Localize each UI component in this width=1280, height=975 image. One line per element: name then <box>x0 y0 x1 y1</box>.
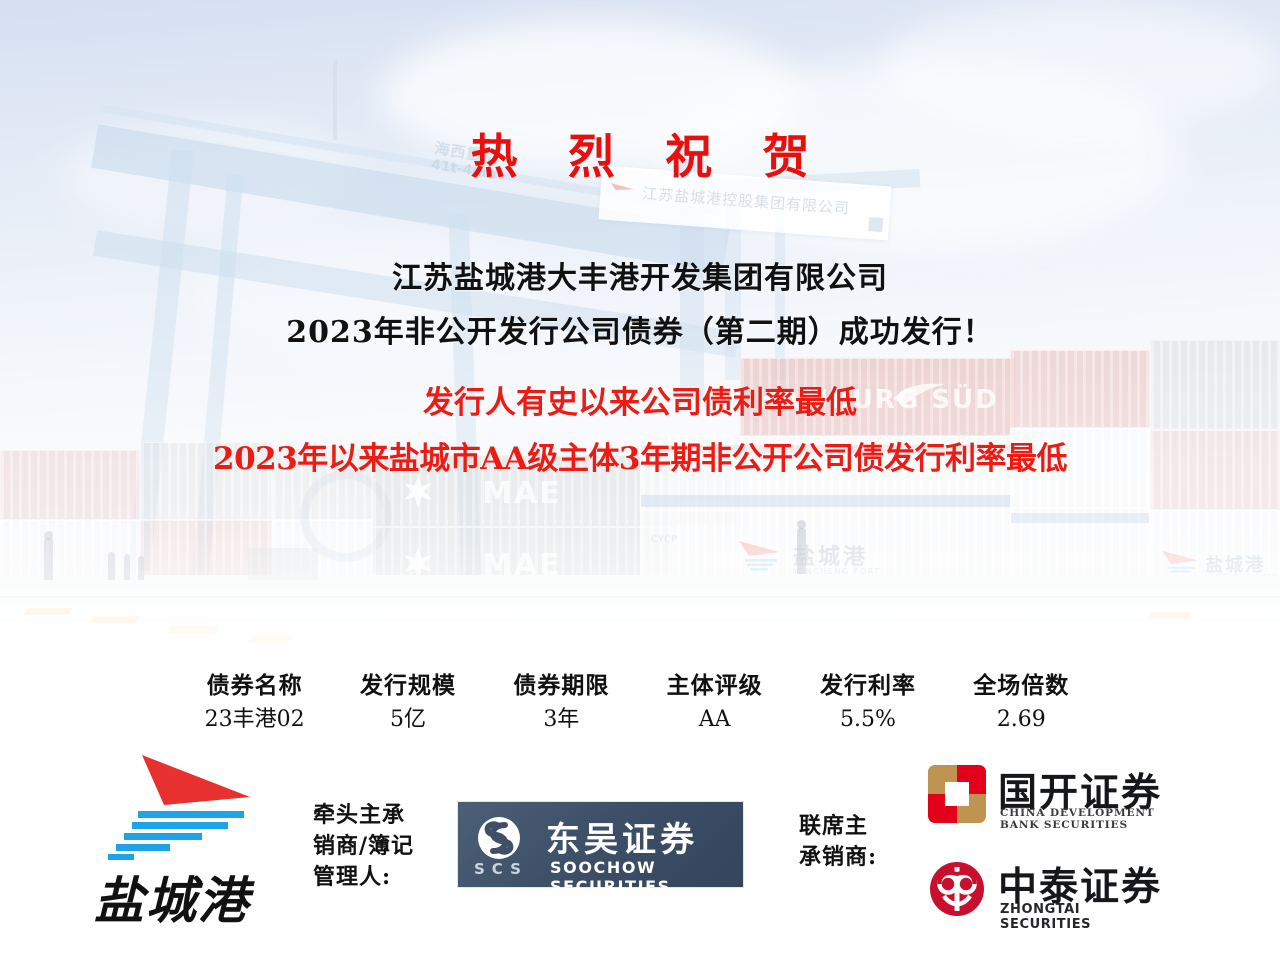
person-silhouette <box>44 531 53 540</box>
yancheng-port-sail-icon <box>80 753 260 863</box>
column-value: 23丰港02 <box>178 703 331 737</box>
table-column-rating: 主体评级 AA <box>638 669 791 737</box>
column-header: 发行利率 <box>791 669 944 703</box>
yancheng-port-sail-icon <box>737 539 781 575</box>
cdb-quadrant-icon <box>928 765 986 823</box>
soochow-securities-logo: SCS 东吴证券 SOOCHOW SECURITIES <box>457 801 744 888</box>
soochow-name-cn: 东吴证券 <box>546 812 698 861</box>
column-value: 5.5% <box>791 703 944 737</box>
highlight-line-2: 2023年以来盐城市AA级主体3年期非公开公司债发行利率最低 <box>0 431 1280 487</box>
column-header: 主体评级 <box>638 669 791 703</box>
table-column-issue-size: 发行规模 5亿 <box>331 669 484 737</box>
table-column-coupon: 发行利率 5.5% <box>791 669 944 737</box>
table-column-bond-name: 债券名称 23丰港02 <box>178 669 331 737</box>
column-value: 3年 <box>485 703 638 737</box>
joint-underwriters-label-line-2: 承销商: <box>799 842 877 873</box>
lead-underwriter-label-line-3: 管理人: <box>313 862 414 893</box>
ground-marking <box>0 596 1280 598</box>
table-column-subscription-multiple: 全场倍数 2.69 <box>945 669 1098 737</box>
person-silhouette <box>797 528 806 574</box>
zhongtai-securities-logo: 中泰证券 ZHONGTAI SECURITIES <box>928 858 1163 924</box>
ground-marking-yellow <box>90 616 141 623</box>
table-column-tenor: 债券期限 3年 <box>485 669 638 737</box>
photo-ground-apron <box>0 575 1280 645</box>
soochow-scs-text: SCS <box>474 860 528 878</box>
ground-marking-yellow <box>1148 612 1193 619</box>
column-value: 5亿 <box>331 703 484 737</box>
lead-underwriter-label-line-1: 牵头主承 <box>313 800 414 831</box>
container-code-text: CYCP <box>651 535 678 545</box>
poster-headline: 热 烈 祝 贺 <box>0 118 1280 187</box>
poster-highlight-block: 发行人有史以来公司债利率最低 2023年以来盐城市AA级主体3年期非公开公司债发… <box>0 375 1280 487</box>
terminal-vehicle <box>248 548 318 580</box>
person-silhouette <box>797 520 806 529</box>
joint-underwriters-label-line-1: 联席主 <box>799 811 877 842</box>
person-silhouette <box>124 554 130 580</box>
column-header: 全场倍数 <box>945 669 1098 703</box>
ground-marking <box>0 620 1280 621</box>
celebration-poster: 海西重机 41t-40m 江苏盐城港控股集团有限公司 <box>0 0 1280 975</box>
lead-underwriter-label-line-2: 销商/簿记 <box>313 831 414 862</box>
issuer-logo: 盐城港 <box>62 753 282 943</box>
subtitle-line-2: 2023年非公开发行公司债券（第二期）成功发行！ <box>0 306 1280 360</box>
person-silhouette <box>108 552 115 580</box>
bottom-panel: 债券名称 23丰港02 发行规模 5亿 债券期限 3年 主体评级 AA 发行利率… <box>0 645 1280 975</box>
issuer-logo-text: 盐城港 <box>62 861 282 933</box>
cdb-name-en: CHINA DEVELOPMENT BANK SECURITIES <box>1000 807 1163 831</box>
ground-marking-yellow <box>248 636 293 643</box>
subtitle-line-1: 江苏盐城港大丰港开发集团有限公司 <box>0 252 1280 306</box>
cdb-securities-logo: 国开证券 CHINA DEVELOPMENT BANK SECURITIES <box>928 763 1163 829</box>
bond-summary-table: 债券名称 23丰港02 发行规模 5亿 债券期限 3年 主体评级 AA 发行利率… <box>178 669 1098 737</box>
soochow-name-en: SOOCHOW SECURITIES <box>550 858 743 896</box>
ground-marking-yellow <box>166 626 219 633</box>
column-value: 2.69 <box>945 703 1098 737</box>
person-silhouette <box>44 538 53 580</box>
soochow-chainlink-icon <box>477 816 531 860</box>
column-header: 债券名称 <box>178 669 331 703</box>
column-value: AA <box>638 703 791 737</box>
zhongtai-name-en: ZHONGTAI SECURITIES <box>1000 902 1163 932</box>
column-header: 发行规模 <box>331 669 484 703</box>
person-silhouette <box>138 556 144 580</box>
lead-underwriter-label: 牵头主承 销商/簿记 管理人: <box>313 800 414 893</box>
ground-marking-yellow <box>24 608 73 615</box>
highlight-line-1: 发行人有史以来公司债利率最低 <box>0 375 1280 431</box>
column-header: 债券期限 <box>485 669 638 703</box>
zhongtai-circle-icon <box>928 860 986 918</box>
joint-underwriters-label: 联席主 承销商: <box>799 811 877 873</box>
poster-subtitle-block: 江苏盐城港大丰港开发集团有限公司 2023年非公开发行公司债券（第二期）成功发行… <box>0 252 1280 360</box>
